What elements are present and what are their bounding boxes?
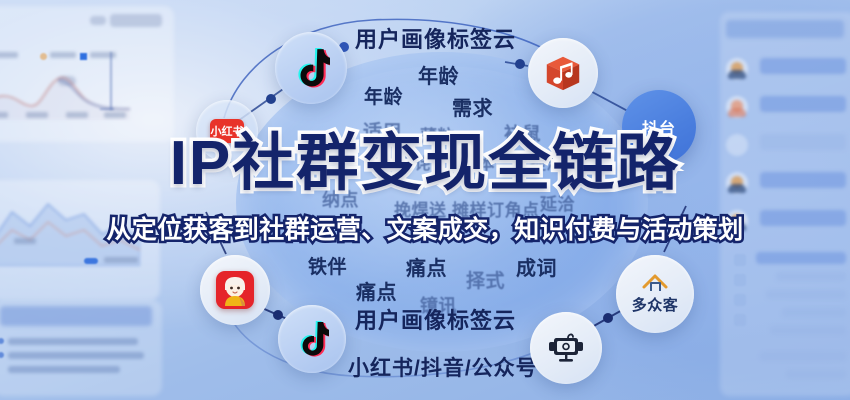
tag-cloud-item: 成词 [516,252,557,281]
node-duozhongke[interactable]: 多众客 [616,255,694,333]
tag-cloud-item: 需求 [452,92,493,121]
node-duozhongke-label: 多众客 [632,294,679,315]
node-douyin-top[interactable] [275,32,347,104]
heading-top-tag-cloud: 用户画像标签云 [355,22,516,54]
house-icon [641,273,669,293]
page-title: IP社群变现全链路 [0,133,850,195]
tiktok-icon [292,47,330,89]
music-cube-icon [542,52,584,94]
xiaohongshu-app-icon [216,271,254,309]
tag-cloud-item: 痛点 [356,276,397,305]
node-xiaohongshu-app[interactable] [200,255,270,325]
poster-canvas: 年龄年龄需求适用薄粒袂鼠纳点挽焊送摊样订角点延洽钧诧基本提浑铁伴痛点痛点择式成词… [0,0,850,400]
tag-cloud-item: 年龄 [364,82,403,109]
tag-cloud-item: 年龄 [418,60,459,89]
diagram-layer: 年龄年龄需求适用薄粒袂鼠纳点挽焊送摊样订角点延洽钧诧基本提浑铁伴痛点痛点择式成词… [0,0,850,400]
heading-bottom-tag-cloud: 用户画像标签云 [355,303,516,335]
page-subtitle: 从定位获客到社群运营、文案成交，知识付费与活动策划 [0,218,850,243]
camera-icon [546,332,586,364]
tag-cloud-item: 铁伴 [308,252,347,279]
tag-cloud-item: 择式 [466,266,505,293]
node-music-cube[interactable] [528,38,598,108]
node-douyin-bottom[interactable] [278,305,346,373]
node-camera[interactable] [530,312,602,384]
girl-avatar-icon [219,274,251,306]
tiktok-icon [295,320,329,358]
heading-platforms: 小红书/抖音/公众号 [348,352,538,382]
tag-cloud-item: 痛点 [406,252,447,281]
